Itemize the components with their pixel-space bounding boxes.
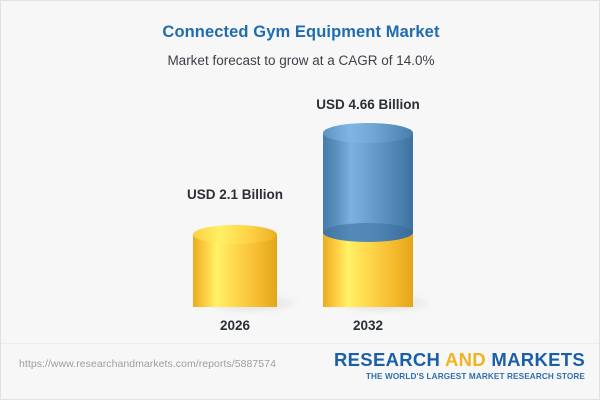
bar-2026-cap (193, 225, 277, 244)
bar-2026-body (193, 234, 277, 307)
bar-2026[interactable] (193, 225, 277, 307)
report-url[interactable]: https://www.researchandmarkets.com/repor… (19, 358, 276, 370)
logo-word-markets: MARKETS (491, 349, 585, 370)
bar-2032-segment-growth (323, 133, 413, 234)
bar-2032-segment-divider (323, 223, 413, 242)
bar-2032-cap (323, 123, 413, 143)
chart-plot-area: USD 2.1 Billion 2026 USD 4.66 Billion 20… (1, 1, 600, 346)
value-label-2032: USD 4.66 Billion (268, 97, 468, 112)
category-label-2032: 2032 (268, 318, 468, 333)
bar-2032[interactable] (323, 123, 413, 307)
footer: https://www.researchandmarkets.com/repor… (1, 343, 600, 399)
logo-word-research: RESEARCH (334, 349, 440, 370)
logo-wordmark: RESEARCH AND MARKETS (334, 350, 585, 370)
chart-card: Connected Gym Equipment Market Market fo… (0, 0, 600, 400)
value-label-2026: USD 2.1 Billion (135, 187, 335, 202)
research-and-markets-logo[interactable]: RESEARCH AND MARKETS THE WORLD'S LARGEST… (334, 350, 585, 381)
logo-word-and: AND (445, 349, 486, 370)
logo-tagline: THE WORLD'S LARGEST MARKET RESEARCH STOR… (334, 372, 585, 381)
